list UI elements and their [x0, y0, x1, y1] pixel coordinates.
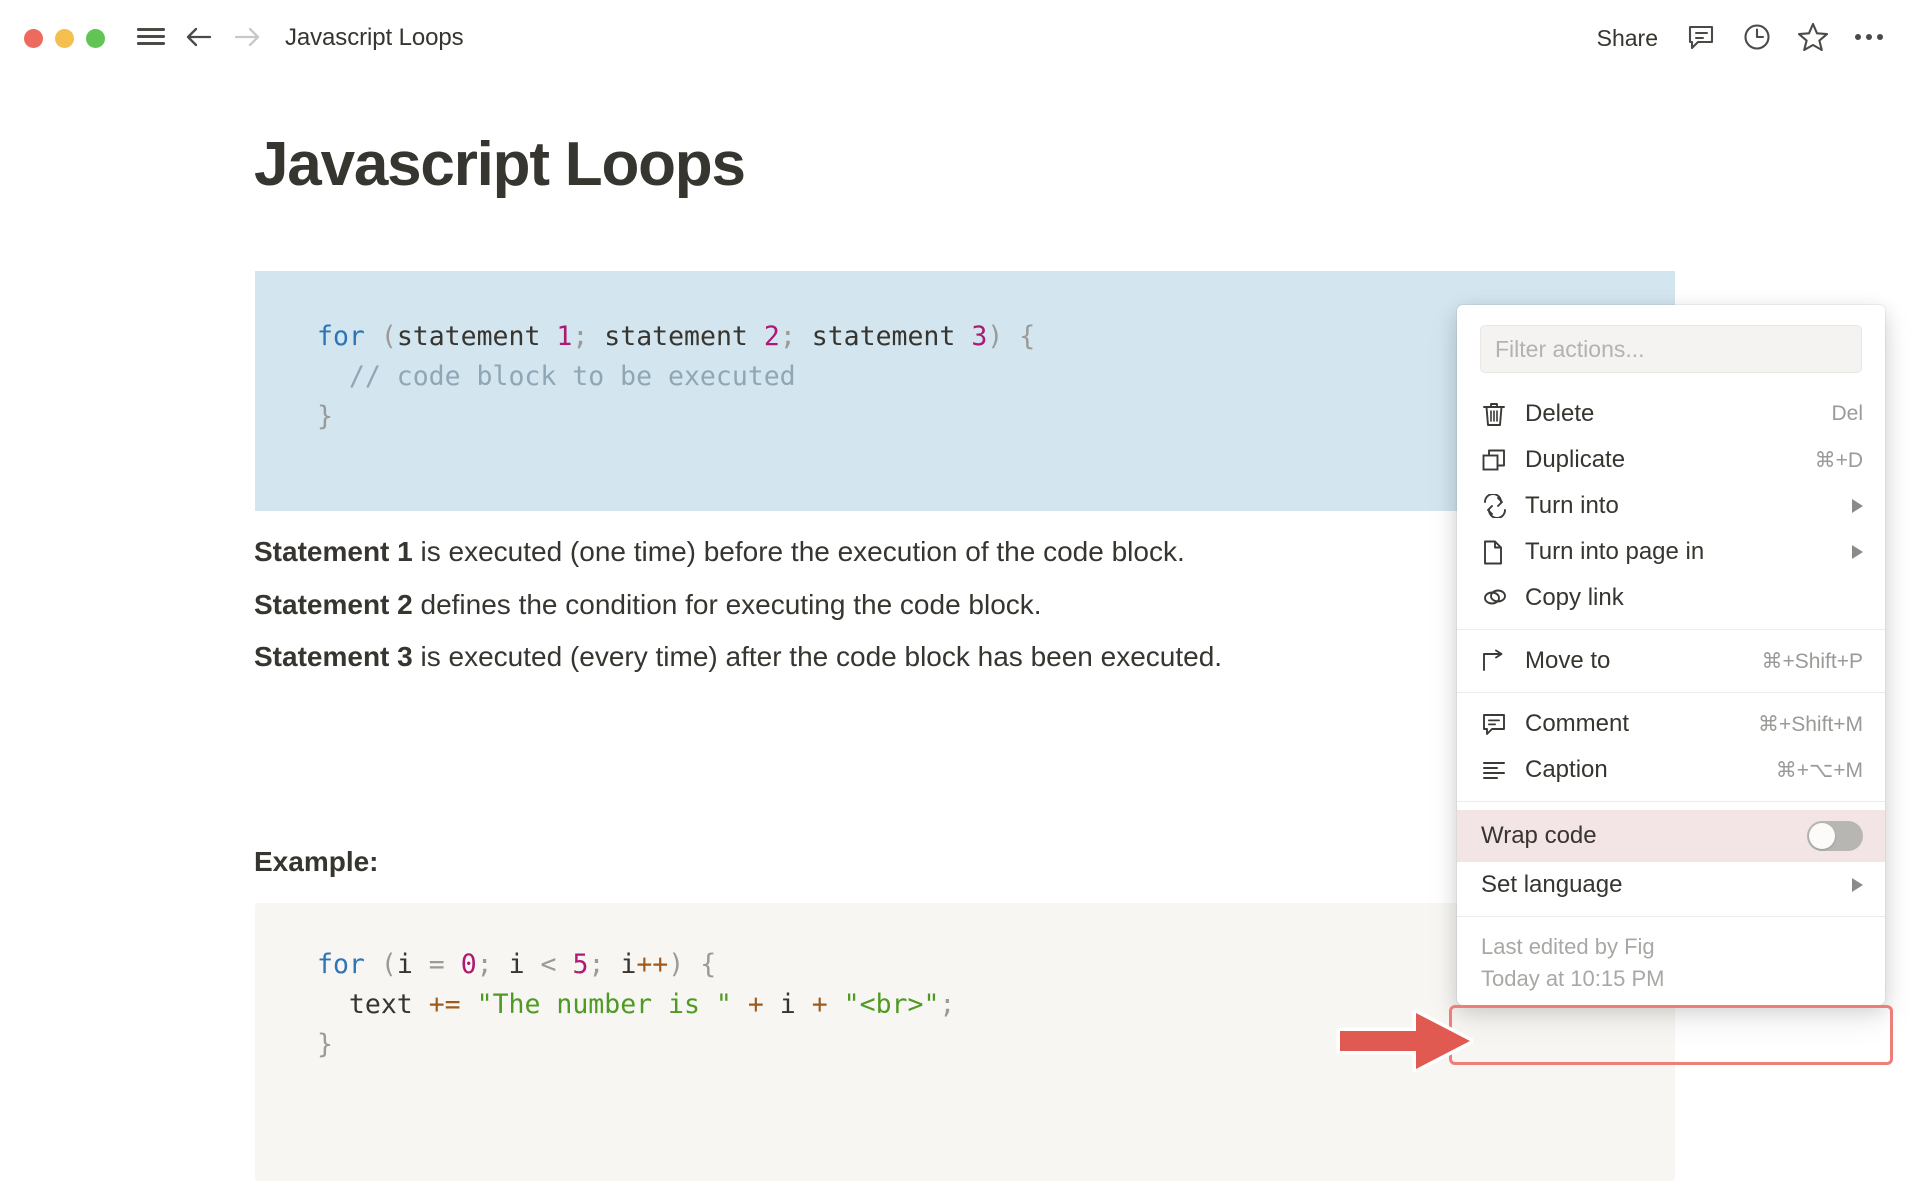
menu-item-label: Duplicate — [1525, 446, 1625, 474]
code-token — [445, 949, 461, 980]
code-token: ( — [381, 321, 397, 352]
code-token — [557, 949, 573, 980]
titlebar-actions: Share — [1585, 15, 1894, 61]
menu-item-label: Set language — [1481, 871, 1622, 899]
caption-icon — [1481, 760, 1511, 780]
forward-arrow-icon — [232, 24, 262, 53]
code-token: ++ — [636, 949, 668, 980]
comment-icon — [1686, 23, 1716, 54]
toggle-knob — [1809, 823, 1835, 849]
code-token: "The number is " — [477, 989, 732, 1020]
code-token — [796, 989, 812, 1020]
code-token — [764, 989, 780, 1020]
code-token: i — [397, 949, 413, 980]
menu-item-wrap-code[interactable]: Wrap code — [1457, 810, 1885, 862]
code-token: "<br>" — [844, 989, 940, 1020]
menu-item-copy-link[interactable]: Copy link — [1457, 575, 1885, 621]
code-token: ; — [588, 949, 604, 980]
paragraph-bold-lead: Statement 1 — [254, 536, 413, 567]
code-token — [493, 949, 509, 980]
code-line: } — [317, 1025, 1675, 1065]
code-token: statement — [604, 321, 748, 352]
code-token: += — [429, 989, 461, 1020]
code-token: ) — [668, 949, 684, 980]
code-token — [604, 949, 620, 980]
last-edited-by: Last edited by Fig — [1481, 931, 1861, 963]
code-token — [413, 949, 429, 980]
menu-item-set-language[interactable]: Set language — [1457, 862, 1885, 908]
navigate-back-button[interactable] — [177, 16, 221, 60]
code-token — [413, 989, 429, 1020]
paragraph-text: defines the condition for executing the … — [413, 589, 1042, 620]
share-button[interactable]: Share — [1585, 19, 1670, 58]
code-token — [955, 321, 971, 352]
titlebar-document-title[interactable]: Javascript Loops — [285, 24, 464, 52]
code-token: { — [700, 949, 716, 980]
code-token: i — [780, 989, 796, 1020]
code-token: statement — [397, 321, 541, 352]
code-token: } — [317, 401, 333, 432]
menu-item-shortcut: ⌘+Shift+P — [1761, 649, 1863, 674]
menu-item-label: Copy link — [1525, 584, 1624, 612]
comment-icon — [1481, 712, 1511, 737]
code-token: for — [317, 949, 365, 980]
last-edited-at: Today at 10:15 PM — [1481, 963, 1861, 995]
comments-button[interactable] — [1676, 15, 1726, 61]
menu-item-shortcut: ⌘+Shift+M — [1758, 712, 1863, 737]
trash-icon — [1481, 401, 1511, 428]
favorite-button[interactable] — [1788, 15, 1838, 61]
code-token: ; — [780, 321, 796, 352]
code-token: ; — [939, 989, 955, 1020]
code-token: 5 — [572, 949, 588, 980]
code-token — [796, 321, 812, 352]
move-arrow-icon — [1481, 649, 1511, 673]
code-token: ; — [572, 321, 588, 352]
menu-item-delete[interactable]: DeleteDel — [1457, 391, 1885, 437]
code-token — [461, 989, 477, 1020]
link-icon — [1481, 586, 1511, 610]
menu-item-duplicate[interactable]: Duplicate⌘+D — [1457, 437, 1885, 483]
code-token: 2 — [764, 321, 780, 352]
paragraph-bold-lead: Statement 3 — [254, 641, 413, 672]
navigate-forward-button[interactable] — [225, 16, 269, 60]
menu-item-turn-into-page-in[interactable]: Turn into page in — [1457, 529, 1885, 575]
menu-item-label: Caption — [1525, 756, 1608, 784]
paragraph-statement-2[interactable]: Statement 2 defines the condition for ex… — [254, 584, 1042, 626]
code-token — [365, 321, 381, 352]
page-content-area: Javascript Loops for (statement 1; state… — [0, 76, 1920, 1200]
menu-item-caption[interactable]: Caption⌘+⌥+M — [1457, 747, 1885, 793]
code-token: } — [317, 1029, 333, 1060]
code-token: i — [509, 949, 525, 980]
history-button[interactable] — [1732, 15, 1782, 61]
code-token — [1003, 321, 1019, 352]
menu-item-shortcut: ⌘+D — [1815, 448, 1863, 473]
paragraph-bold-lead: Statement 2 — [254, 589, 413, 620]
chevron-right-icon — [1852, 545, 1863, 559]
code-token: < — [541, 949, 557, 980]
code-token — [748, 321, 764, 352]
duplicate-icon — [1481, 447, 1511, 473]
back-arrow-icon — [184, 24, 214, 53]
menu-item-shortcut: ⌘+⌥+M — [1776, 758, 1863, 783]
menu-section: Comment⌘+Shift+MCaption⌘+⌥+M — [1457, 693, 1885, 801]
code-token — [365, 949, 381, 980]
block-context-menu: DeleteDelDuplicate⌘+DTurn intoTurn into … — [1457, 305, 1885, 1005]
ellipsis-icon — [1853, 31, 1885, 46]
chevron-right-icon — [1852, 878, 1863, 892]
code-token: 1 — [556, 321, 572, 352]
code-token: for — [317, 321, 365, 352]
menu-section: Move to⌘+Shift+P — [1457, 630, 1885, 692]
code-token: 0 — [461, 949, 477, 980]
code-token: 3 — [971, 321, 987, 352]
titlebar: Javascript Loops Share — [0, 0, 1920, 76]
code-token: // code block to be executed — [317, 361, 796, 392]
code-token: statement — [812, 321, 956, 352]
maximize-window-button[interactable] — [86, 29, 105, 48]
menu-item-label: Turn into page in — [1525, 538, 1704, 566]
menu-item-comment[interactable]: Comment⌘+Shift+M — [1457, 701, 1885, 747]
code-token — [828, 989, 844, 1020]
chevron-right-icon — [1852, 499, 1863, 513]
paragraph-statement-3[interactable]: Statement 3 is executed (every time) aft… — [254, 636, 1222, 678]
page-title[interactable]: Javascript Loops — [254, 131, 745, 199]
code-token — [540, 321, 556, 352]
filter-actions-input[interactable] — [1480, 325, 1862, 373]
window-traffic-lights — [24, 29, 105, 48]
menu-item-move-to[interactable]: Move to⌘+Shift+P — [1457, 638, 1885, 684]
paragraph-text: is executed (one time) before the execut… — [413, 536, 1185, 567]
sidebar-toggle-button[interactable] — [129, 16, 173, 60]
minimize-window-button[interactable] — [55, 29, 74, 48]
menu-item-label: Delete — [1525, 400, 1594, 428]
paragraph-text: is executed (every time) after the code … — [413, 641, 1222, 672]
example-label[interactable]: Example: — [254, 846, 379, 878]
menu-item-label: Turn into — [1525, 492, 1619, 520]
code-token: { — [1019, 321, 1035, 352]
paragraph-statement-1[interactable]: Statement 1 is executed (one time) befor… — [254, 531, 1185, 573]
code-token — [684, 949, 700, 980]
menu-sections: DeleteDelDuplicate⌘+DTurn intoTurn into … — [1457, 383, 1885, 801]
menu-item-label: Comment — [1525, 710, 1629, 738]
more-options-button[interactable] — [1844, 15, 1894, 61]
code-token — [732, 989, 748, 1020]
code-token: + — [812, 989, 828, 1020]
menu-section-code-options: Wrap code Set language — [1457, 802, 1885, 916]
code-token — [317, 989, 349, 1020]
page-icon — [1481, 539, 1511, 566]
code-token: ; — [477, 949, 493, 980]
menu-item-turn-into[interactable]: Turn into — [1457, 483, 1885, 529]
code-token: = — [429, 949, 445, 980]
code-token — [588, 321, 604, 352]
code-token — [525, 949, 541, 980]
close-window-button[interactable] — [24, 29, 43, 48]
star-icon — [1797, 21, 1829, 55]
menu-item-label: Move to — [1525, 647, 1610, 675]
wrap-code-toggle[interactable] — [1807, 821, 1863, 851]
menu-section: DeleteDelDuplicate⌘+DTurn intoTurn into … — [1457, 383, 1885, 629]
clock-icon — [1742, 22, 1772, 55]
menu-footer: Last edited by Fig Today at 10:15 PM — [1457, 917, 1885, 1005]
titlebar-nav-group — [129, 16, 269, 60]
code-token: ) — [987, 321, 1003, 352]
swap-arrows-icon — [1481, 494, 1511, 518]
hamburger-icon — [136, 25, 166, 52]
code-token: text — [349, 989, 413, 1020]
code-token: ( — [381, 949, 397, 980]
code-token: + — [748, 989, 764, 1020]
menu-item-shortcut: Del — [1831, 402, 1863, 426]
menu-item-label: Wrap code — [1481, 822, 1597, 850]
code-token: i — [620, 949, 636, 980]
app-window: Javascript Loops Share — [0, 0, 1920, 1200]
